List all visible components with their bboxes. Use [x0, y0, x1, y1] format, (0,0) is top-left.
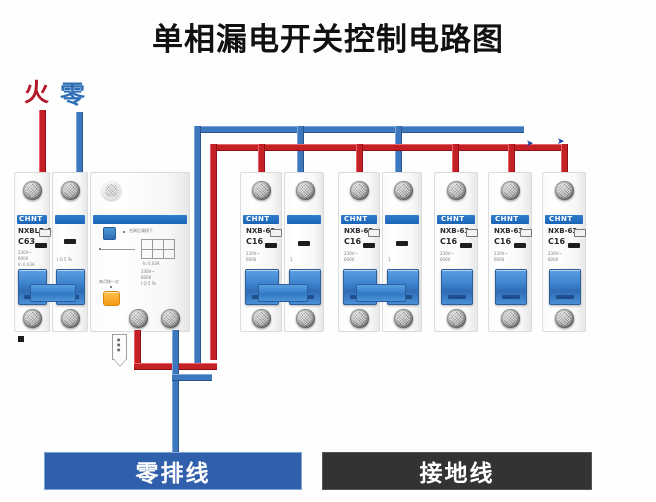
rcd-terminal-in-neutral[interactable]: [61, 181, 80, 200]
breaker-5-handle-notch: [556, 295, 574, 299]
breaker-1-handle-linkbar[interactable]: [258, 284, 308, 302]
breaker-2-micro-2: 6000: [344, 257, 354, 262]
rcd-status-window-1: [35, 243, 47, 248]
breaker-5-status-window: [568, 243, 580, 248]
breaker-1-status-window-2: [298, 241, 310, 246]
rcd-brand-bar-2: [55, 215, 85, 224]
breaker-2-rating-label: C16: [344, 238, 361, 246]
breaker-4-micro-1: 230V~: [494, 251, 508, 256]
rcd-schematic-caption: In 0.03A: [143, 261, 160, 266]
rcd-indicator-square[interactable]: [103, 227, 116, 240]
breaker-5-terminal-out[interactable]: [555, 309, 574, 328]
rcd-terminal-out-aux-2[interactable]: [161, 309, 180, 328]
neutral-bus-riser-left: [194, 126, 201, 366]
breaker-2-brand-text: CHNT: [344, 215, 368, 224]
rcd-output-neutral-bridge: [172, 374, 212, 381]
breaker-1-pole-1[interactable]: CHNT NXB-63 C16 230V~ 6000: [240, 172, 282, 332]
breaker-3-status-window: [460, 243, 472, 248]
breaker-1-brand-bar-2: [287, 215, 321, 224]
breaker-1-terminal-in-live[interactable]: [252, 181, 271, 200]
rcd-brand-bar-3: [93, 215, 187, 224]
breaker-2-certification-mark: [368, 229, 380, 237]
neutral-distribution-bus: [194, 126, 524, 133]
rcd-schematic-grid-h: [141, 249, 175, 250]
breaker-2-handle-linkbar[interactable]: [356, 284, 406, 302]
rcd-pole-2[interactable]: I O 5 Te: [52, 172, 88, 332]
breaker-4-terminal-out[interactable]: [501, 309, 520, 328]
rcd-status-window-2: [64, 239, 76, 244]
rcd-indicator-label: 合闸后请按下: [129, 228, 153, 233]
breaker-1-rating-label: C16: [246, 238, 263, 246]
breaker-3-handle-notch: [448, 295, 466, 299]
breaker-2-terminal-in-neutral[interactable]: [394, 181, 413, 200]
rcd-spec-line-1: 230V~: [18, 250, 32, 255]
breaker-5-micro-2: 6000: [548, 257, 558, 262]
rcd-test-button-label: 每月按一次: [99, 279, 119, 284]
breaker-1-terminal-out-neutral[interactable]: [296, 309, 315, 328]
breaker-3-model-label: NXB-63: [440, 228, 469, 236]
rcd-schematic-node: [99, 248, 101, 250]
breaker-5-model-label: NXB-63: [548, 228, 577, 236]
breaker-5-brand-text: CHNT: [549, 215, 573, 224]
breaker-1-terminal-in-neutral[interactable]: [296, 181, 315, 200]
breaker-1-status-window-1: [265, 243, 277, 248]
live-drop-breaker-4: [508, 144, 515, 172]
breaker-5-certification-mark: [574, 229, 586, 237]
breaker-5-pole-1[interactable]: CHNT NXB-63 C16 230V~ 6000: [542, 172, 586, 332]
breaker-3-terminal-in[interactable]: [447, 181, 466, 200]
breaker-4-pole-1[interactable]: CHNT NXB-63 C16 230V~ 6000: [488, 172, 532, 332]
rcd-body-spec-3: I O 5 Te: [141, 281, 156, 286]
busbar-neutral-label: 零排线: [136, 454, 211, 488]
busbar-ground[interactable]: 接地线: [322, 452, 592, 490]
breaker-3-rating-label: C16: [440, 238, 457, 246]
breaker-4-model-label: NXB-63: [494, 228, 523, 236]
breaker-2-terminal-in-live[interactable]: [350, 181, 369, 200]
breaker-1-certification-mark: [270, 229, 282, 237]
busbar-neutral[interactable]: 零排线: [44, 452, 302, 490]
page-title: 单相漏电开关控制电路图: [0, 14, 656, 59]
breaker-2-status-window-1: [363, 243, 375, 248]
breaker-2-micro-1: 230V~: [344, 251, 358, 256]
breaker-1-brand-text: CHNT: [246, 215, 270, 224]
breaker-4-certification-mark: [520, 229, 532, 237]
breaker-4-micro-2: 6000: [494, 257, 504, 262]
breaker-2-terminal-out-neutral[interactable]: [394, 309, 413, 328]
breaker-4-rating-label: C16: [494, 238, 511, 246]
live-drop-breaker-2: [356, 144, 363, 172]
breaker-1-micro-3: 1: [290, 257, 293, 262]
rcd-direction-tag-text: ●●●: [117, 337, 121, 352]
live-drop-breaker-3: [452, 144, 459, 172]
breaker-5-terminal-in[interactable]: [555, 181, 574, 200]
rcd-indicator-dot: [123, 231, 125, 233]
rcd-test-button[interactable]: [103, 291, 120, 306]
rcd-test-button-dot: [110, 286, 112, 288]
rcd-terminal-out-neutral[interactable]: [61, 309, 80, 328]
live-drop-breaker-5: [561, 144, 568, 172]
breaker-2-pole-2[interactable]: 1: [382, 172, 422, 332]
breaker-3-micro-1: 230V~: [440, 251, 454, 256]
breaker-4-handle-notch: [502, 295, 520, 299]
breaker-2-brand-bar-2: [385, 215, 419, 224]
bus-accent-marker-left: ➤: [526, 140, 534, 149]
breaker-4-terminal-in[interactable]: [501, 181, 520, 200]
rcd-polarity-mark: [18, 336, 24, 342]
breaker-4-status-window: [514, 243, 526, 248]
breaker-3-brand-text: CHNT: [441, 215, 465, 224]
device-rcd-main[interactable]: CHNT NXBLE-63 C63 230V~ 6000 In 0.03A I …: [14, 172, 190, 332]
rcd-terminal-in-live[interactable]: [23, 181, 42, 200]
rcd-spec-line-2: 6000: [18, 256, 28, 261]
breaker-1-terminal-out-live[interactable]: [252, 309, 271, 328]
breaker-3-pole-1[interactable]: CHNT NXB-63 C16 230V~ 6000: [434, 172, 478, 332]
incoming-live-wire: [39, 110, 46, 172]
rcd-terminal-out-live[interactable]: [23, 309, 42, 328]
device-breaker-2[interactable]: CHNT NXB-63 C16 230V~ 6000 1: [338, 172, 422, 332]
rcd-certification-mark: [39, 229, 51, 237]
breaker-3-certification-mark: [466, 229, 478, 237]
rcd-body-spec-2: 6000: [141, 275, 151, 280]
device-breaker-4[interactable]: CHNT NXB-63 C16 230V~ 6000: [488, 172, 532, 332]
circuit-diagram-canvas: 单相漏电开关控制电路图 火 零 ➤ ➤ CHNT NXBLE-63 C63 23…: [0, 0, 656, 502]
source-label-live: 火: [24, 80, 49, 105]
breaker-3-micro-2: 6000: [440, 257, 450, 262]
live-bus-riser-left: [210, 144, 217, 360]
breaker-1-micro-2: 6000: [246, 257, 256, 262]
rcd-schematic-lead: [101, 249, 135, 250]
breaker-5-rating-label: C16: [548, 238, 565, 246]
breaker-1-pole-2[interactable]: 1: [284, 172, 324, 332]
source-label-neutral: 零: [60, 82, 85, 107]
rcd-output-neutral-drop: [172, 330, 179, 458]
breaker-4-brand-text: CHNT: [495, 215, 519, 224]
breaker-4-handle[interactable]: [495, 269, 527, 305]
breaker-2-micro-3: 1: [388, 257, 391, 262]
breaker-1-micro-1: 230V~: [246, 251, 260, 256]
incoming-neutral-wire: [76, 112, 83, 172]
rcd-pole-1[interactable]: CHNT NXBLE-63 C63 230V~ 6000 In 0.03A: [14, 172, 50, 332]
bus-accent-marker-right: ➤: [557, 138, 565, 147]
rcd-brand-text: CHNT: [19, 215, 43, 224]
breaker-5-handle[interactable]: [549, 269, 581, 305]
breaker-5-micro-1: 230V~: [548, 251, 562, 256]
breaker-2-pole-1[interactable]: CHNT NXB-63 C16 230V~ 6000: [338, 172, 380, 332]
rcd-pole2-micro: I O 5 Te: [57, 257, 72, 262]
device-breaker-3[interactable]: CHNT NXB-63 C16 230V~ 6000: [434, 172, 478, 332]
rcd-direction-tag: ●●●: [112, 334, 127, 360]
live-drop-breaker-1: [258, 144, 265, 172]
breaker-3-terminal-out[interactable]: [447, 309, 466, 328]
breaker-3-handle[interactable]: [441, 269, 473, 305]
rcd-body-spec-1: 230V~: [141, 269, 155, 274]
rcd-handle-linkbar[interactable]: [30, 284, 76, 302]
rcd-direction-tag-arrow: [114, 359, 126, 366]
rcd-electronics-body[interactable]: 合闸后请按下 In 0.03A 230V~ 6000 I O 5 Te 每月按一…: [90, 172, 190, 332]
breaker-2-status-window-2: [396, 241, 408, 246]
rcd-body-blank-hole: [102, 181, 121, 200]
device-breaker-1[interactable]: CHNT NXB-63 C16 230V~ 6000 1: [240, 172, 324, 332]
rcd-terminal-out-aux-1[interactable]: [129, 309, 148, 328]
rcd-rating-label: C63: [18, 238, 35, 246]
device-breaker-5[interactable]: CHNT NXB-63 C16 230V~ 6000: [542, 172, 586, 332]
busbar-ground-label: 接地线: [420, 454, 495, 488]
breaker-2-terminal-out-live[interactable]: [350, 309, 369, 328]
rcd-spec-line-3: In 0.03A: [18, 262, 35, 267]
